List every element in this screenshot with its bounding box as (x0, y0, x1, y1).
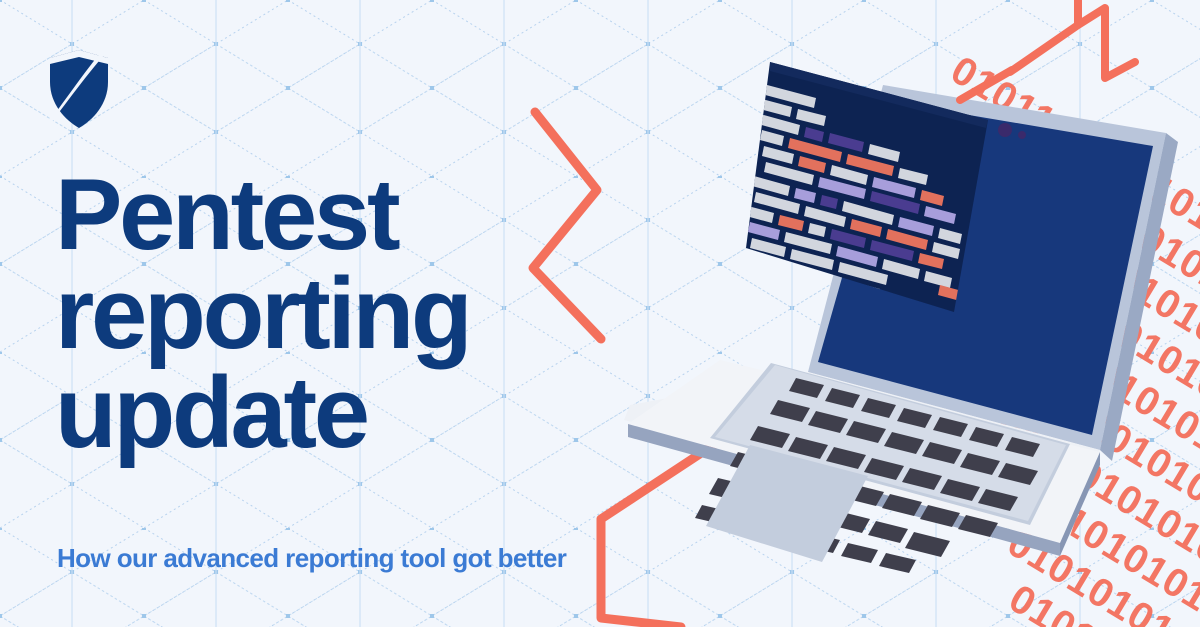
hero-banner: 01011010101010101010101010 0101010010101… (0, 0, 1200, 627)
shield-logo-icon[interactable] (46, 48, 112, 130)
coral-path-top-right-icon (1010, 0, 1135, 78)
coral-path-top-right-tail-icon (960, 70, 1012, 100)
headline-block: Pentest reporting update (55, 166, 469, 463)
page-subtitle: How our advanced reporting tool got bett… (57, 545, 566, 571)
page-title: Pentest reporting update (55, 166, 469, 463)
